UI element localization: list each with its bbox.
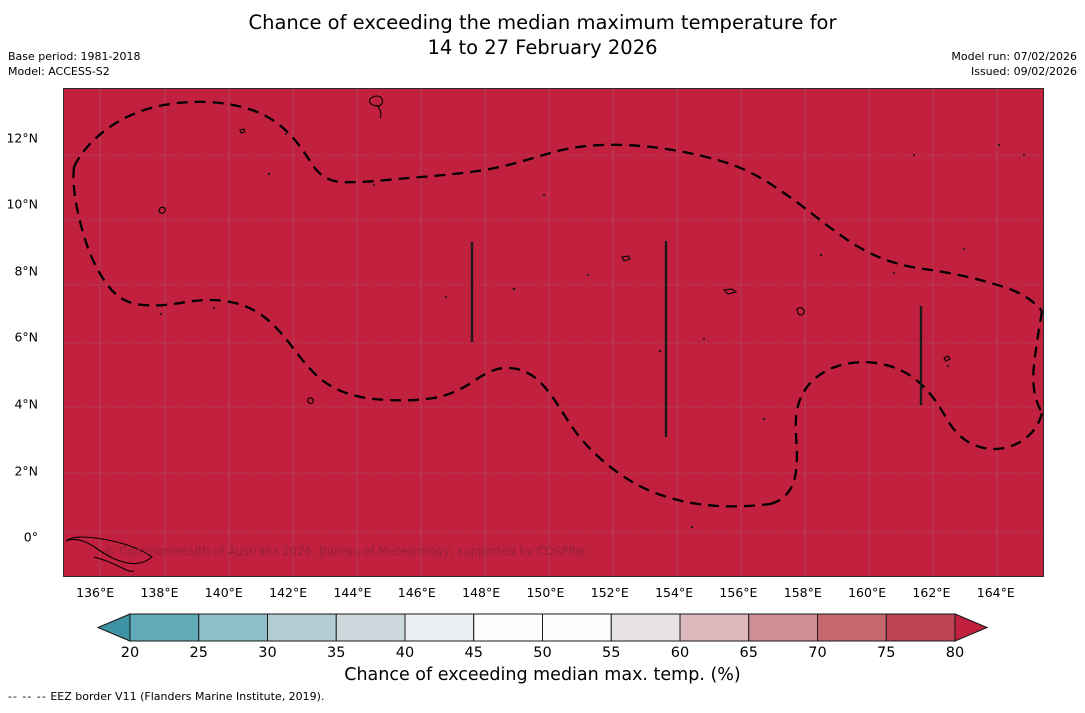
x-axis-tick-label: 156°E	[719, 585, 757, 600]
colorbar-tick-label: 20	[121, 645, 139, 661]
y-axis-tick-label: 2°N	[0, 463, 38, 478]
colorbar-over-arrow	[955, 614, 987, 641]
colorbar-canvas	[0, 612, 1085, 648]
colorbar-band	[543, 614, 612, 641]
x-axis-tick-label: 144°E	[333, 585, 371, 600]
x-axis-tick-label: 148°E	[462, 585, 500, 600]
colorbar-band	[199, 614, 268, 641]
colorbar-tick-label: 55	[602, 645, 620, 661]
eez-border-line	[73, 102, 1042, 507]
colorbar-tick-label: 80	[946, 645, 964, 661]
colorbar-under-arrow	[98, 614, 130, 641]
eez-internal-boundaries	[472, 241, 921, 437]
colorbar-band	[611, 614, 680, 641]
x-axis-tick-label: 146°E	[398, 585, 436, 600]
colorbar-band	[474, 614, 543, 641]
colorbar-band	[886, 614, 955, 641]
colorbar-tick-label: 75	[877, 645, 895, 661]
x-axis-tick-label: 160°E	[848, 585, 886, 600]
coastline-outlines	[66, 96, 950, 571]
y-axis-tick-label: 10°N	[0, 197, 38, 212]
x-axis-tick-label: 136°E	[76, 585, 114, 600]
colorbar[interactable]	[0, 612, 1085, 648]
metadata-right: Model run: 07/02/2026 Issued: 09/02/2026	[951, 49, 1077, 79]
colorbar-band	[130, 614, 199, 641]
colorbar-band	[268, 614, 337, 641]
x-axis-tick-label: 142°E	[269, 585, 307, 600]
colorbar-tick-label: 50	[533, 645, 551, 661]
x-axis-tick-label: 140°E	[205, 585, 243, 600]
map-gridlines-vertical	[100, 89, 997, 576]
colorbar-tick-label: 45	[465, 645, 483, 661]
metadata-left: Base period: 1981-2018 Model: ACCESS-S2	[8, 49, 140, 79]
colorbar-band	[405, 614, 474, 641]
issued-text: Issued: 09/02/2026	[951, 64, 1077, 79]
x-axis-tick-label: 150°E	[526, 585, 564, 600]
x-axis-tick-label: 164°E	[977, 585, 1015, 600]
colorbar-tick-label: 35	[327, 645, 345, 661]
x-axis-tick-label: 152°E	[591, 585, 629, 600]
y-axis-tick-label: 8°N	[0, 263, 38, 278]
colorbar-tick-label: 60	[671, 645, 689, 661]
page-title: Chance of exceeding the median maximum t…	[0, 10, 1085, 60]
x-axis-tick-label: 158°E	[784, 585, 822, 600]
y-axis-tick-label: 0°	[0, 530, 38, 545]
eez-dash-sample: -- -- --	[8, 690, 47, 703]
y-axis-tick-label: 6°N	[0, 330, 38, 345]
colorbar-band	[336, 614, 405, 641]
colorbar-label: Chance of exceeding median max. temp. (%…	[0, 665, 1085, 685]
colorbar-tick-label: 40	[396, 645, 414, 661]
colorbar-tick-label: 25	[190, 645, 208, 661]
forecast-map-page: Chance of exceeding the median maximum t…	[0, 0, 1085, 713]
x-axis-tick-label: 138°E	[140, 585, 178, 600]
colorbar-tick-label: 65	[740, 645, 758, 661]
colorbar-band	[818, 614, 887, 641]
map-plot-area[interactable]: © Commonwealth of Australia 2026, Bureau…	[63, 88, 1044, 577]
colorbar-tick-label: 70	[808, 645, 826, 661]
model-run-text: Model run: 07/02/2026	[951, 49, 1077, 64]
colorbar-tick-label: 30	[258, 645, 276, 661]
eez-credit-text: EEZ border V11 (Flanders Marine Institut…	[50, 690, 324, 703]
colorbar-band	[749, 614, 818, 641]
y-axis-tick-label: 4°N	[0, 397, 38, 412]
map-gridlines	[64, 155, 1043, 532]
colorbar-band	[680, 614, 749, 641]
base-period-text: Base period: 1981-2018	[8, 49, 140, 64]
footer-legend: -- -- -- EEZ border V11 (Flanders Marine…	[8, 690, 324, 703]
model-text: Model: ACCESS-S2	[8, 64, 140, 79]
coastline-specks	[160, 133, 1025, 528]
y-axis-tick-label: 12°N	[0, 130, 38, 145]
x-axis-tick-label: 154°E	[655, 585, 693, 600]
map-canvas	[64, 89, 1043, 576]
x-axis-tick-label: 162°E	[912, 585, 950, 600]
